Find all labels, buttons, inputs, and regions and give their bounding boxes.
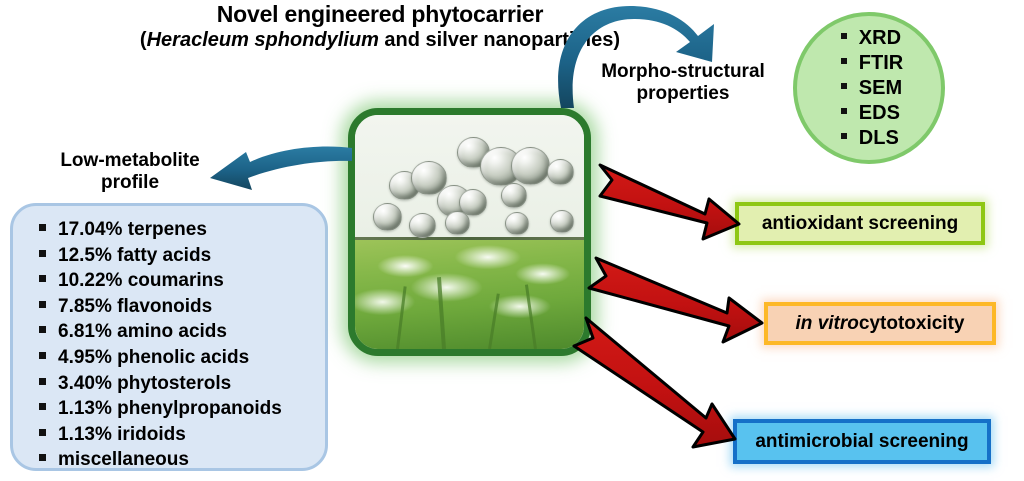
- technique-label: FTIR: [859, 51, 903, 76]
- metabolite-label: 3.40% phytosterols: [58, 371, 231, 397]
- title-sub-rest: and silver nanoparticles): [379, 29, 620, 51]
- metabolite-label: miscellaneous: [58, 447, 189, 473]
- nanoparticle: [445, 211, 470, 235]
- title-subtitle-line: (Heracleum sphondylium and silver nanopa…: [30, 29, 730, 52]
- list-item: 7.85% flavonoids: [39, 294, 325, 320]
- square-bullet-icon: [39, 224, 46, 231]
- technique-label: XRD: [859, 26, 901, 51]
- list-item: 12.5% fatty acids: [39, 243, 325, 269]
- antioxidant-screening-label: antioxidant screening: [762, 213, 958, 235]
- list-item: DLS: [841, 126, 903, 151]
- list-item: 3.40% phytosterols: [39, 371, 325, 397]
- plant-stem: [437, 277, 446, 349]
- cytotoxicity-label-italic: in vitro: [796, 313, 859, 335]
- title-species-name: Heracleum sphondylium: [147, 29, 379, 51]
- title-main-line: Novel engineered phytocarrier: [30, 2, 730, 28]
- metabolite-label: 1.13% phenylpropanoids: [58, 396, 282, 422]
- graphical-abstract: Novel engineered phytocarrier (Heracleum…: [0, 0, 1024, 481]
- metabolite-label: 10.22% coumarins: [58, 268, 224, 294]
- metabolite-label: 17.04% terpenes: [58, 217, 207, 243]
- square-bullet-icon: [39, 352, 46, 359]
- list-item: miscellaneous: [39, 447, 325, 473]
- metabolite-profile-box: 17.04% terpenes 12.5% fatty acids 10.22%…: [10, 203, 328, 471]
- low-metabolite-curved-arrow: [210, 147, 352, 190]
- nanoparticle: [511, 147, 550, 185]
- plant-stem: [488, 293, 500, 349]
- metabolite-list: 17.04% terpenes 12.5% fatty acids 10.22%…: [39, 217, 325, 473]
- title-sub-open: (: [140, 29, 147, 51]
- metabolite-label: 12.5% fatty acids: [58, 243, 211, 269]
- square-bullet-icon: [39, 275, 46, 282]
- square-bullet-icon: [39, 454, 46, 461]
- square-bullet-icon: [841, 33, 847, 39]
- morpho-structural-label: Morpho-structural properties: [583, 61, 783, 106]
- arrow-to-antioxidant: [600, 165, 739, 239]
- morpho-techniques-circle: XRD FTIR SEM EDS DLS: [793, 12, 945, 164]
- plant-photo-region: [355, 237, 584, 349]
- metabolite-label: 7.85% flavonoids: [58, 294, 212, 320]
- nanoparticle: [550, 210, 574, 233]
- square-bullet-icon: [39, 429, 46, 436]
- list-item: XRD: [841, 26, 903, 51]
- antimicrobial-screening-box: antimicrobial screening: [733, 419, 991, 464]
- square-bullet-icon: [841, 58, 847, 64]
- list-item: 1.13% phenylpropanoids: [39, 396, 325, 422]
- square-bullet-icon: [39, 301, 46, 308]
- list-item: 6.81% amino acids: [39, 319, 325, 345]
- plant-stem: [525, 284, 537, 349]
- technique-list: XRD FTIR SEM EDS DLS: [835, 26, 903, 151]
- list-item: EDS: [841, 101, 903, 126]
- list-item: 1.13% iridoids: [39, 422, 325, 448]
- nanoparticle: [409, 213, 436, 238]
- square-bullet-icon: [841, 133, 847, 139]
- nanoparticle: [505, 212, 529, 235]
- list-item: 10.22% coumarins: [39, 268, 325, 294]
- metabolite-label: 6.81% amino acids: [58, 319, 227, 345]
- list-item: SEM: [841, 76, 903, 101]
- square-bullet-icon: [841, 83, 847, 89]
- phytocarrier-image-panel: [348, 108, 591, 356]
- nanoparticle: [373, 203, 402, 231]
- square-bullet-icon: [39, 403, 46, 410]
- square-bullet-icon: [39, 326, 46, 333]
- technique-label: SEM: [859, 76, 902, 101]
- square-bullet-icon: [39, 378, 46, 385]
- antioxidant-screening-box: antioxidant screening: [735, 202, 985, 245]
- list-item: 17.04% terpenes: [39, 217, 325, 243]
- arrow-to-cytotoxicity: [589, 258, 762, 342]
- technique-label: DLS: [859, 126, 899, 151]
- cytotoxicity-label-rest: cytotoxicity: [859, 313, 965, 335]
- antimicrobial-screening-label: antimicrobial screening: [755, 431, 968, 453]
- plant-stem: [396, 286, 407, 349]
- technique-label: EDS: [859, 101, 900, 126]
- horizon-divider: [355, 237, 584, 240]
- metabolite-label: 1.13% iridoids: [58, 422, 186, 448]
- square-bullet-icon: [39, 250, 46, 257]
- page-title: Novel engineered phytocarrier (Heracleum…: [30, 2, 730, 52]
- low-metabolite-heading: Low-metabolite profile: [30, 150, 230, 194]
- cytotoxicity-box: in vitro cytotoxicity: [764, 302, 996, 345]
- nanoparticle: [547, 159, 574, 185]
- list-item: FTIR: [841, 51, 903, 76]
- metabolite-label: 4.95% phenolic acids: [58, 345, 249, 371]
- nanoparticle: [501, 183, 527, 208]
- square-bullet-icon: [841, 108, 847, 114]
- list-item: 4.95% phenolic acids: [39, 345, 325, 371]
- arrow-to-antimicrobial: [574, 318, 735, 447]
